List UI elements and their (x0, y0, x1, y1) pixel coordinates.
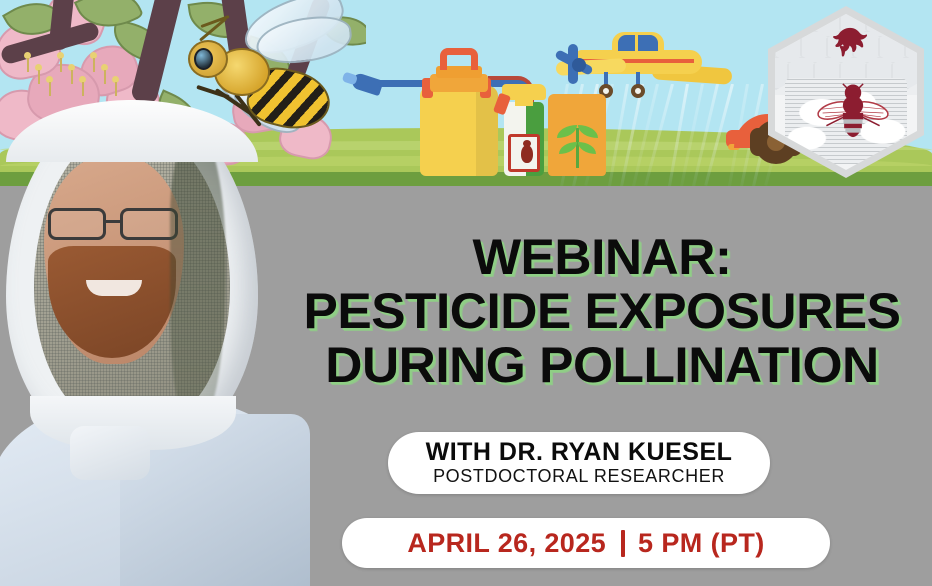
pump-sprayer-icon (420, 86, 498, 176)
bug-label-icon (508, 134, 540, 172)
crimson-bee-icon (815, 80, 891, 146)
event-time: 5 PM (PT) (638, 528, 765, 559)
event-date: APRIL 26, 2025 (407, 528, 606, 559)
speaker-name: WITH DR. RYAN KUESEL (426, 439, 733, 466)
title-line-1: WEBINAR: (283, 232, 922, 282)
page-title: WEBINAR: PESTICIDE EXPOSURES DURING POLL… (292, 232, 912, 390)
webinar-poster: WEBINAR: PESTICIDE EXPOSURES DURING POLL… (0, 0, 932, 586)
wsu-honey-bee-badge (768, 6, 924, 178)
wsu-cougar-head-icon (827, 26, 873, 68)
speaker-pill: WITH DR. RYAN KUESEL POSTDOCTORAL RESEAR… (388, 432, 770, 494)
title-line-3: DURING POLLINATION (283, 340, 922, 390)
smile (86, 280, 142, 296)
eyeglasses-icon (46, 208, 186, 242)
title-line-2: PESTICIDE EXPOSURES (283, 286, 922, 336)
schedule-pill: APRIL 26, 2025 5 PM (PT) (342, 518, 830, 568)
schedule-divider (621, 530, 625, 557)
beekeeper-portrait (0, 96, 282, 586)
pesticide-equipment-group (352, 46, 612, 176)
bee-eye (194, 48, 213, 70)
speaker-role: POSTDOCTORAL RESEARCHER (433, 465, 725, 488)
